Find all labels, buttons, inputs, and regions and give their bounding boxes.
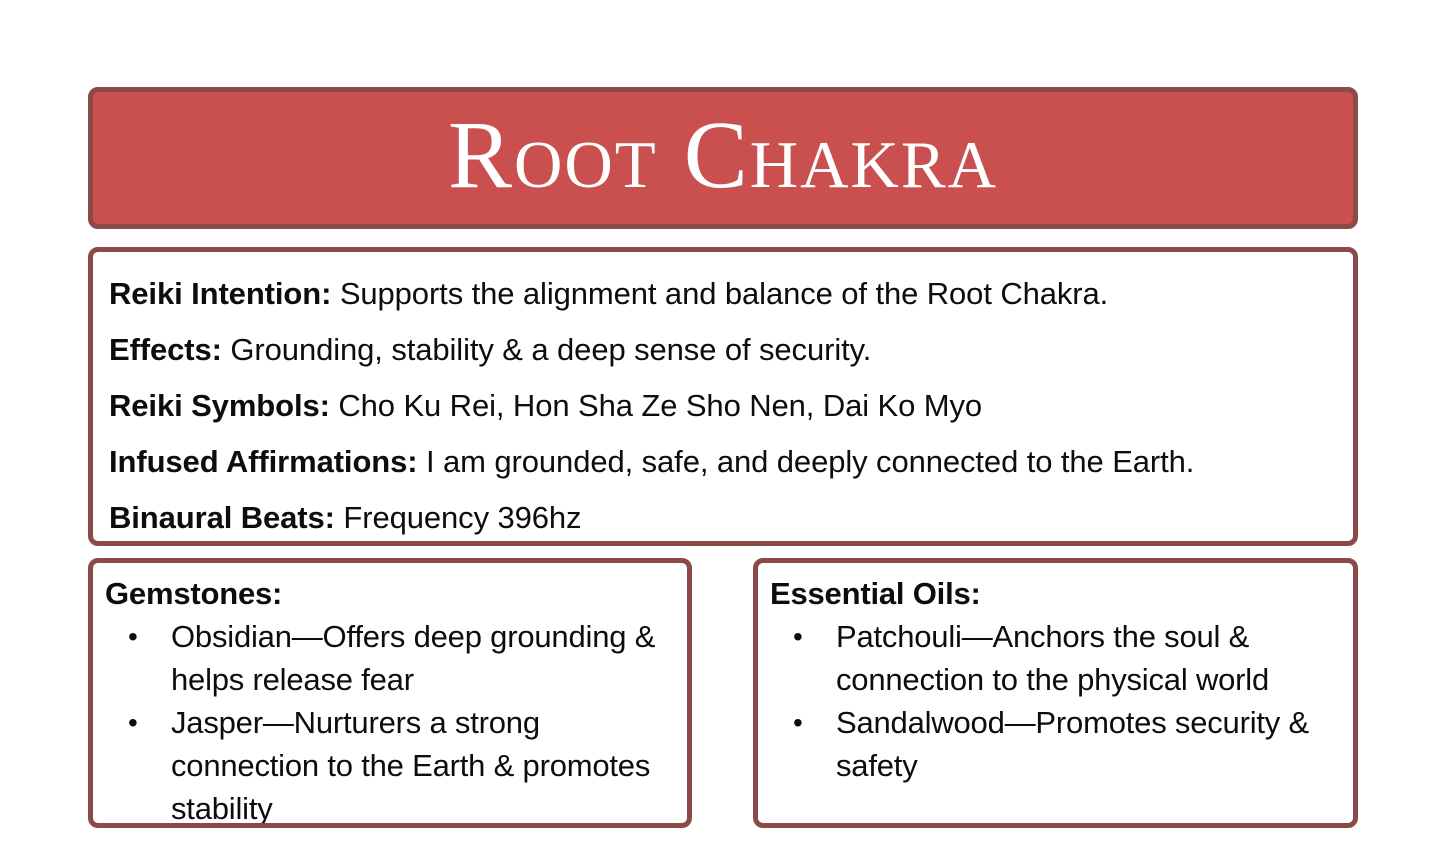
info-label: Infused Affirmations:	[109, 444, 417, 479]
header-banner: Root Chakra	[88, 87, 1358, 229]
info-row-reiki-intention: Reiki Intention: Supports the alignment …	[109, 266, 1339, 322]
gemstones-box: Gemstones: Obsidian—Offers deep groundin…	[88, 558, 692, 828]
info-panel: Reiki Intention: Supports the alignment …	[88, 247, 1358, 546]
info-row-reiki-symbols: Reiki Symbols: Cho Ku Rei, Hon Sha Ze Sh…	[109, 378, 1339, 434]
gemstones-heading: Gemstones:	[105, 572, 677, 615]
list-item: Jasper—Nurturers a strong connection to …	[105, 701, 677, 828]
page-title: Root Chakra	[448, 107, 998, 209]
info-row-effects: Effects: Grounding, stability & a deep s…	[109, 322, 1339, 378]
info-label: Binaural Beats:	[109, 500, 335, 535]
list-item: Patchouli—Anchors the soul & connection …	[770, 615, 1343, 701]
info-value: Supports the alignment and balance of th…	[340, 276, 1108, 311]
info-value: Cho Ku Rei, Hon Sha Ze Sho Nen, Dai Ko M…	[338, 388, 982, 423]
info-label: Reiki Symbols:	[109, 388, 330, 423]
essential-oils-heading: Essential Oils:	[770, 572, 1343, 615]
essential-oils-box: Essential Oils: Patchouli—Anchors the so…	[753, 558, 1358, 828]
info-row-binaural-beats: Binaural Beats: Frequency 396hz	[109, 490, 1339, 546]
chakra-info-card: Root Chakra Reiki Intention: Supports th…	[0, 0, 1445, 867]
essential-oils-list: Patchouli—Anchors the soul & connection …	[770, 615, 1343, 787]
info-value: Grounding, stability & a deep sense of s…	[230, 332, 871, 367]
info-value: Frequency 396hz	[343, 500, 581, 535]
gemstones-list: Obsidian—Offers deep grounding & helps r…	[105, 615, 677, 828]
info-label: Reiki Intention:	[109, 276, 331, 311]
info-label: Effects:	[109, 332, 222, 367]
list-item: Sandalwood—Promotes security & safety	[770, 701, 1343, 787]
info-value: I am grounded, safe, and deeply connecte…	[426, 444, 1194, 479]
info-row-infused-affirmations: Infused Affirmations: I am grounded, saf…	[109, 434, 1339, 490]
list-item: Obsidian—Offers deep grounding & helps r…	[105, 615, 677, 701]
